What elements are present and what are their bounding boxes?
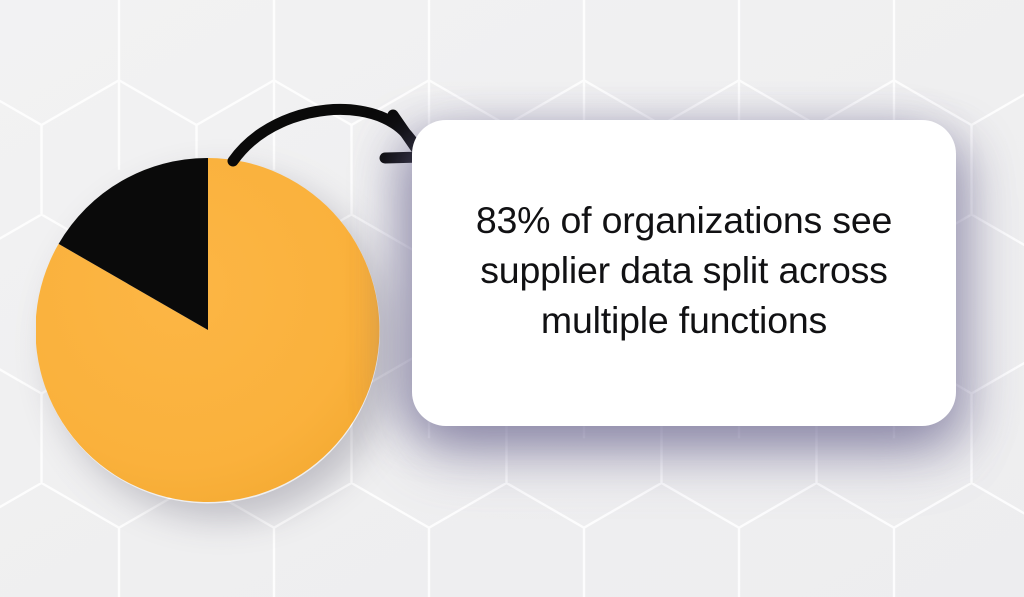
callout-text: 83% of organizations see supplier data s… <box>444 195 924 352</box>
callout-line-1: 83% of organizations see <box>444 195 924 245</box>
arrow-shaft <box>233 109 418 161</box>
pie-chart-graphic <box>36 158 380 503</box>
callout-line-3: multiple functions <box>444 295 924 345</box>
callout-line-2: supplier data split across <box>444 245 924 295</box>
pie-chart <box>36 158 380 503</box>
callout-card: 83% of organizations see supplier data s… <box>412 120 956 426</box>
infographic-canvas: 83% of organizations see supplier data s… <box>0 0 1024 597</box>
